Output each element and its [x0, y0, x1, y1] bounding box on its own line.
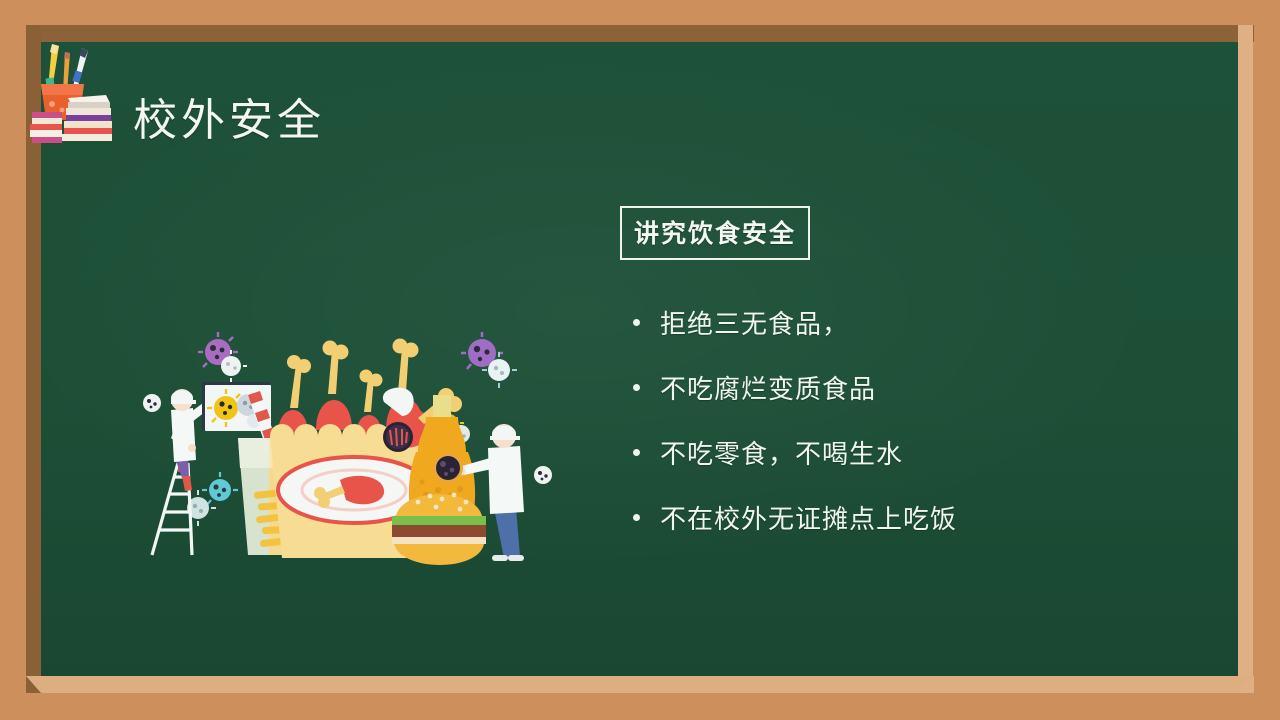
frame-bevel-right	[1238, 25, 1253, 693]
frame-bevel-top	[26, 25, 1254, 42]
list-item: 拒绝三无食品，	[620, 304, 1180, 341]
slide-root: 校外安全	[0, 0, 1280, 720]
content-panel: 讲究饮食安全 拒绝三无食品， 不吃腐烂变质食品 不吃零食，不喝生水 不在校外无证…	[620, 206, 1180, 564]
frame-corner-bottom-left	[26, 676, 41, 693]
list-item-text: 不在校外无证摊点上吃饭	[660, 505, 957, 534]
list-item: 不在校外无证摊点上吃饭	[620, 499, 1180, 536]
frame-corner-bottom-right	[1238, 676, 1253, 693]
list-item-text: 拒绝三无食品，	[660, 310, 849, 339]
bullet-dot-icon	[633, 384, 640, 391]
frame-corner-top-right	[1238, 25, 1253, 42]
list-item: 不吃腐烂变质食品	[620, 369, 1180, 406]
page-title: 校外安全	[133, 84, 325, 148]
bullet-list: 拒绝三无食品， 不吃腐烂变质食品 不吃零食，不喝生水 不在校外无证摊点上吃饭	[620, 304, 1180, 536]
list-item-text: 不吃腐烂变质食品	[660, 375, 876, 404]
section-heading: 讲究饮食安全	[620, 206, 810, 260]
list-item-text: 不吃零食，不喝生水	[660, 440, 903, 469]
list-item: 不吃零食，不喝生水	[620, 434, 1180, 471]
bullet-dot-icon	[633, 514, 640, 521]
books-and-pencils-icon	[28, 38, 114, 148]
frame-bevel-bottom	[26, 676, 1254, 693]
food-safety-illustration	[130, 290, 570, 575]
bullet-dot-icon	[633, 319, 640, 326]
bullet-dot-icon	[633, 449, 640, 456]
